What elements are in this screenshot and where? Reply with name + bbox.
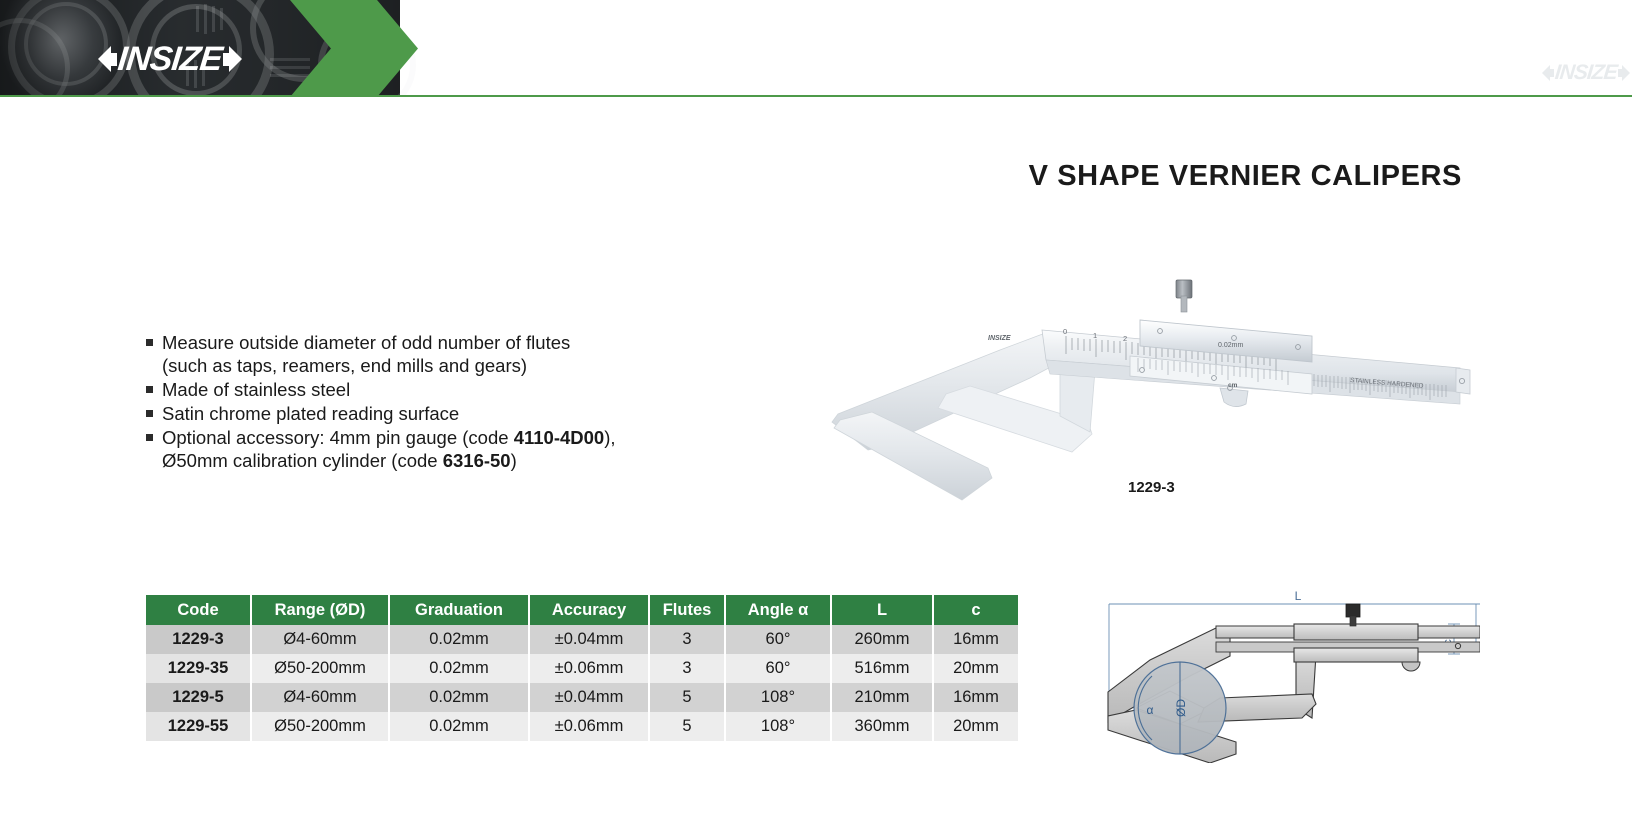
cell-angle: 60° xyxy=(725,654,831,683)
list-item: Made of stainless steel xyxy=(146,378,746,401)
logo-left-bar xyxy=(111,53,117,66)
photo-graduation-mark: 0.02mm xyxy=(1218,342,1243,349)
header-green-rule xyxy=(0,95,1632,97)
cell-angle: 60° xyxy=(725,625,831,654)
cell-angle: 108° xyxy=(725,712,831,741)
column-header-graduation: Graduation xyxy=(389,595,529,625)
watermark-wordmark: INSIZE xyxy=(1554,62,1618,83)
cell-l: 516mm xyxy=(831,654,933,683)
cell-code: 1229-3 xyxy=(146,625,251,654)
svg-text:0: 0 xyxy=(1063,327,1067,336)
cell-c: 20mm xyxy=(933,712,1018,741)
caliper-photo-svg: 012 345 6 INSIZE xyxy=(820,262,1480,512)
feature-text: Measure outside diameter of odd number o… xyxy=(162,331,746,377)
cell-l: 260mm xyxy=(831,625,933,654)
feature-text: Satin chrome plated reading surface xyxy=(162,402,746,425)
product-model-label: 1229-3 xyxy=(1128,479,1175,496)
table-header-row: Code Range (ØD) Graduation Accuracy Flut… xyxy=(146,595,1018,625)
column-header-angle: Angle α xyxy=(725,595,831,625)
table-row: 1229-3 Ø4-60mm 0.02mm ±0.04mm 3 60° 260m… xyxy=(146,625,1018,654)
svg-text:2: 2 xyxy=(1123,334,1127,343)
column-header-c: c xyxy=(933,595,1018,625)
cell-code: 1229-35 xyxy=(146,654,251,683)
column-header-code: Code xyxy=(146,595,251,625)
cell-code: 1229-5 xyxy=(146,683,251,712)
table-row: 1229-35 Ø50-200mm 0.02mm ±0.06mm 3 60° 5… xyxy=(146,654,1018,683)
feature-line-pre: Optional accessory: 4mm pin gauge (code xyxy=(162,427,514,448)
column-header-accuracy: Accuracy xyxy=(529,595,649,625)
cell-range: Ø4-60mm xyxy=(251,625,389,654)
list-item: Measure outside diameter of odd number o… xyxy=(146,331,746,377)
cell-flutes: 5 xyxy=(649,683,725,712)
cell-range: Ø4-60mm xyxy=(251,683,389,712)
logo-right-arrow-icon xyxy=(229,46,242,72)
cell-graduation: 0.02mm xyxy=(389,625,529,654)
column-header-l: L xyxy=(831,595,933,625)
logo-wordmark: INSIZE xyxy=(116,42,223,76)
technical-drawing: L c xyxy=(1040,558,1480,763)
bullet-square-icon xyxy=(146,410,153,417)
logo-left-arrow-icon xyxy=(98,46,111,72)
column-header-flutes: Flutes xyxy=(649,595,725,625)
list-item: Optional accessory: 4mm pin gauge (code … xyxy=(146,426,746,472)
cell-accuracy: ±0.04mm xyxy=(529,625,649,654)
dimension-label-alpha: α xyxy=(1147,703,1154,717)
cell-flutes: 5 xyxy=(649,712,725,741)
feature-line-post: ) xyxy=(511,450,517,471)
table-row: 1229-5 Ø4-60mm 0.02mm ±0.04mm 5 108° 210… xyxy=(146,683,1018,712)
insize-watermark-logo: INSIZE xyxy=(1542,62,1630,83)
photo-brand-mark: INSIZE xyxy=(988,335,1011,342)
accessory-code-pin-gauge: 4110-4D00 xyxy=(514,427,605,448)
insize-logo: INSIZE xyxy=(98,42,242,76)
cell-range: Ø50-200mm xyxy=(251,712,389,741)
page-header: INSIZE INSIZE xyxy=(0,0,1632,97)
bullet-square-icon xyxy=(146,386,153,393)
feature-line: Measure outside diameter of odd number o… xyxy=(162,332,570,353)
cell-l: 360mm xyxy=(831,712,933,741)
cell-l: 210mm xyxy=(831,683,933,712)
cell-c: 16mm xyxy=(933,683,1018,712)
technical-drawing-svg: L c xyxy=(1040,558,1480,763)
watermark-right-arrow-icon xyxy=(1622,65,1630,81)
cell-code: 1229-55 xyxy=(146,712,251,741)
dimension-label-od: ØD xyxy=(1174,699,1188,717)
cell-range: Ø50-200mm xyxy=(251,654,389,683)
cell-graduation: 0.02mm xyxy=(389,712,529,741)
dimension-label-L: L xyxy=(1295,589,1302,603)
bullet-square-icon xyxy=(146,339,153,346)
feature-line-pre: Ø50mm calibration cylinder (code xyxy=(162,450,443,471)
cell-flutes: 3 xyxy=(649,625,725,654)
feature-line-post: ), xyxy=(604,427,615,448)
feature-line: (such as taps, reamers, end mills and ge… xyxy=(162,355,527,376)
cell-angle: 108° xyxy=(725,683,831,712)
svg-text:1: 1 xyxy=(1093,331,1097,340)
table-row: 1229-55 Ø50-200mm 0.02mm ±0.06mm 5 108° … xyxy=(146,712,1018,741)
cell-flutes: 3 xyxy=(649,654,725,683)
watermark-left-arrow-icon xyxy=(1542,65,1550,81)
feature-text: Made of stainless steel xyxy=(162,378,746,401)
cell-accuracy: ±0.06mm xyxy=(529,654,649,683)
specifications-table: Code Range (ØD) Graduation Accuracy Flut… xyxy=(146,595,1018,741)
product-photo: 012 345 6 INSIZE xyxy=(820,262,1480,512)
list-item: Satin chrome plated reading surface xyxy=(146,402,746,425)
cell-c: 20mm xyxy=(933,654,1018,683)
accessory-code-cylinder: 6316-50 xyxy=(443,450,511,471)
cell-accuracy: ±0.04mm xyxy=(529,683,649,712)
cell-accuracy: ±0.06mm xyxy=(529,712,649,741)
feature-text: Optional accessory: 4mm pin gauge (code … xyxy=(162,426,746,472)
bullet-square-icon xyxy=(146,434,153,441)
column-header-range: Range (ØD) xyxy=(251,595,389,625)
cell-graduation: 0.02mm xyxy=(389,683,529,712)
cell-graduation: 0.02mm xyxy=(389,654,529,683)
page-title: V SHAPE VERNIER CALIPERS xyxy=(1029,160,1462,193)
feature-list: Measure outside diameter of odd number o… xyxy=(146,331,746,473)
cell-c: 16mm xyxy=(933,625,1018,654)
